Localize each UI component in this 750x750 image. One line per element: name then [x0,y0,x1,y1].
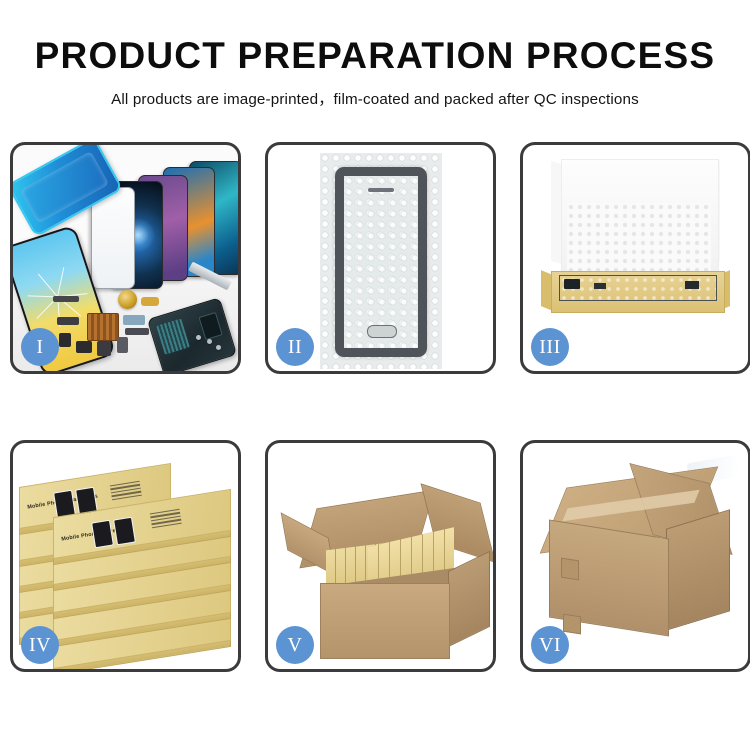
step-badge-1: I [21,328,59,366]
process-step-grid: I II [10,142,742,672]
spare-part [141,297,159,306]
step-badge-3: III [531,328,569,366]
process-step-6[interactable]: VI [520,440,750,672]
carton-handle-tab [561,558,579,581]
carton-side-panel [448,551,490,647]
step-badge-4: IV [21,626,59,664]
step-badge-5: V [276,626,314,664]
gold-coil-part [118,290,137,309]
copper-chip-part [87,313,119,341]
home-button-slot [367,325,397,338]
spare-part [53,296,79,302]
spare-part [76,341,92,353]
earpiece-slot [368,188,394,192]
process-step-5[interactable]: V [265,440,496,672]
carton-handle-tab [563,614,581,635]
product-preparation-infographic: PRODUCT PREPARATION PROCESS All products… [0,0,750,750]
step-badge-6: VI [531,626,569,664]
page-title: PRODUCT PREPARATION PROCESS [0,34,750,78]
process-step-1[interactable]: I [10,142,241,374]
process-step-2[interactable]: II [265,142,496,374]
carton-front-panel [320,583,450,659]
box-screen-thumbnail [113,517,136,546]
foam-padding [567,203,711,273]
screws-group [196,335,222,351]
box-screen-thumbnail [91,520,114,549]
bubble-wrap-overlay [344,176,418,348]
spare-part [57,317,79,325]
spare-part [97,341,111,356]
spare-part [125,328,149,335]
header: PRODUCT PREPARATION PROCESS All products… [0,34,750,109]
step-badge-2: II [276,328,314,366]
stacked-kraft-boxes: Mobile Phone Spare Parts [19,467,237,657]
wrapped-phone-screen [335,167,427,357]
page-subtitle: All products are image-printed，film-coat… [0,87,750,109]
process-step-3[interactable]: III [520,142,750,374]
spare-part [117,337,128,353]
spare-part [123,315,145,325]
packed-screen-in-box [559,275,717,301]
spare-part [59,333,71,347]
carton-side-panel [666,509,730,631]
process-step-4[interactable]: Mobile Phone Spare Parts [10,440,241,672]
